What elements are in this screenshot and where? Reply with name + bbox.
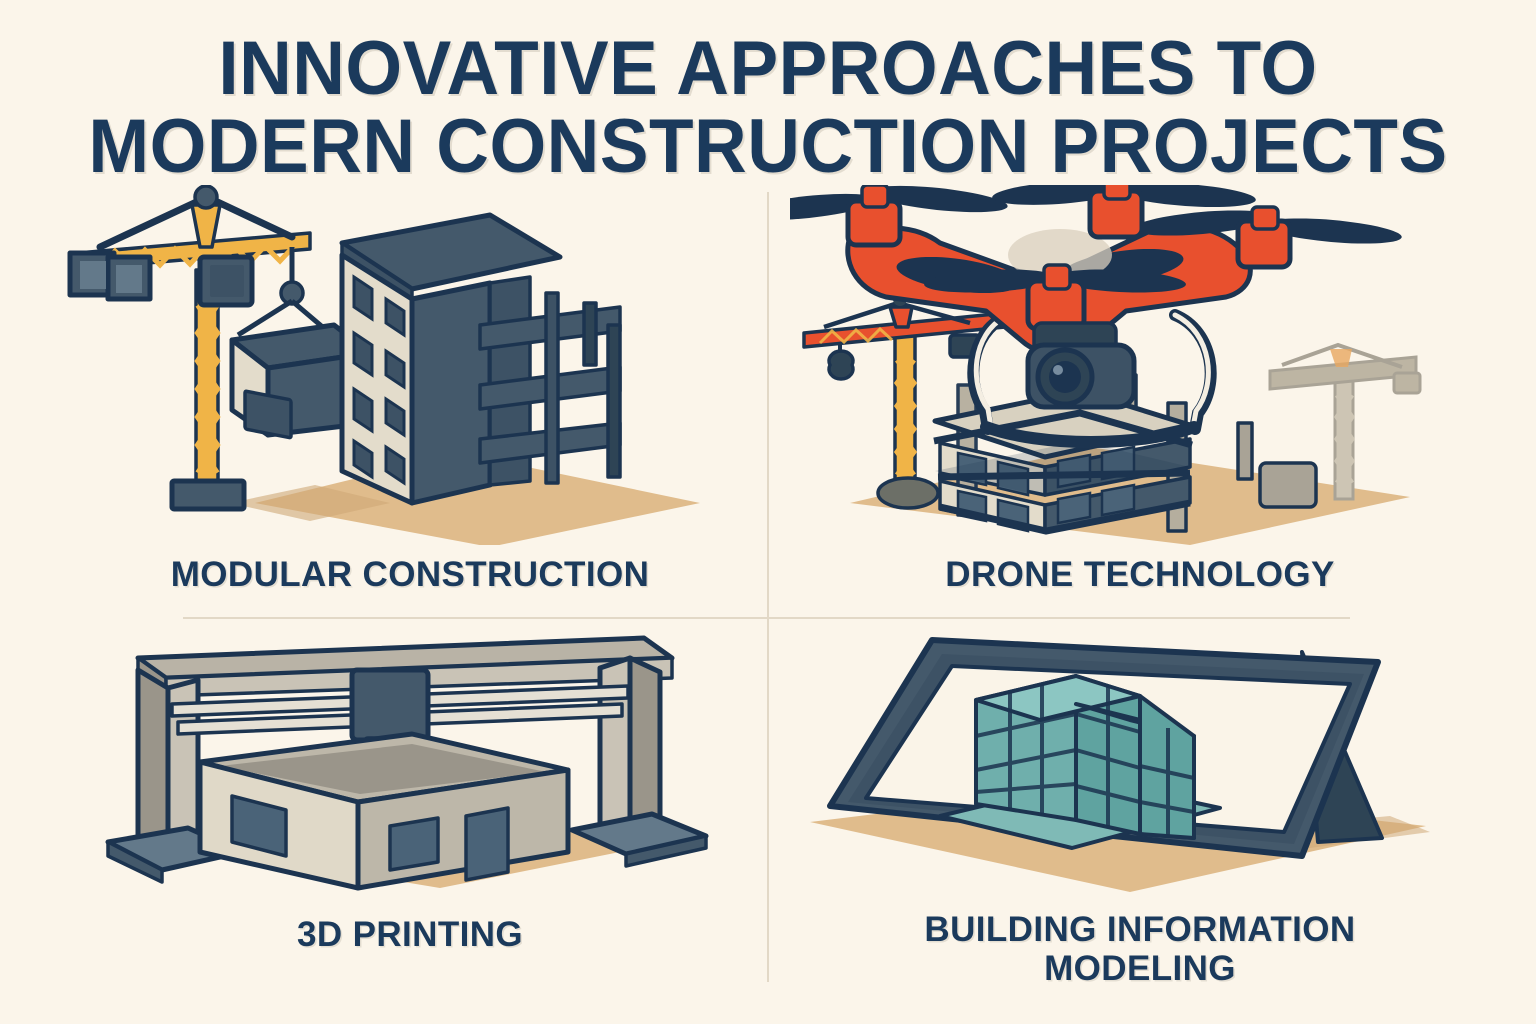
gantry-right-column-side	[630, 658, 660, 838]
module-window	[245, 391, 291, 438]
crane-apex-pulley	[195, 186, 217, 208]
panel-building-information-modeling: .b { stroke:#1C3450; stroke-width:6; str…	[790, 620, 1490, 920]
page-title: Innovative Approaches to Modern Construc…	[0, 30, 1536, 185]
panel-label-3d-printing: 3D Printing	[60, 915, 760, 954]
infographic-canvas: Innovative Approaches to Modern Construc…	[0, 0, 1536, 1024]
panel-label-building-information-modeling: Building Information Modeling	[790, 910, 1490, 988]
crane-base	[172, 481, 244, 509]
site-post	[1238, 423, 1252, 479]
title-line-2: Modern Construction Projects	[31, 108, 1506, 186]
quadcopter-drone	[790, 185, 1403, 442]
house-window-right	[390, 818, 438, 870]
3d-printing-illustration: .p { stroke:#1C3450; stroke-width:5; str…	[60, 630, 760, 900]
bim-illustration: .b { stroke:#1C3450; stroke-width:6; str…	[790, 620, 1490, 900]
bim-label-line-2: Modeling	[1044, 949, 1236, 988]
gantry-left-column	[138, 670, 168, 852]
operator-cab-window	[210, 265, 244, 297]
title-line-1: Innovative Approaches to	[31, 30, 1506, 108]
drone-technology-illustration: .o { stroke:#1C3450; stroke-width:5; str…	[790, 185, 1490, 545]
modular-construction-illustration: .ol { stroke:#1C3450; stroke-width:5; st…	[60, 185, 760, 545]
building-exposed-frame	[480, 277, 620, 485]
counterweight-face-b	[116, 265, 142, 293]
divider-vertical	[767, 192, 769, 982]
bim-label-line-1: Building Information	[924, 910, 1355, 949]
crane-hook-block	[281, 282, 303, 304]
panel-drone-technology: .o { stroke:#1C3450; stroke-width:5; str…	[790, 185, 1490, 605]
panel-label-drone-technology: Drone Technology	[790, 555, 1490, 594]
panel-modular-construction: .ol { stroke:#1C3450; stroke-width:5; st…	[60, 185, 760, 605]
crane-tie-bar-right	[207, 197, 292, 237]
house-door	[466, 808, 508, 880]
site-rock	[878, 478, 938, 508]
counterweight-face-a	[80, 261, 106, 289]
gimbal-camera	[1028, 323, 1134, 407]
panel-3d-printing: .p { stroke:#1C3450; stroke-width:5; str…	[60, 630, 760, 930]
site-equipment	[1260, 463, 1316, 507]
panel-label-modular-construction: Modular Construction	[60, 555, 760, 594]
